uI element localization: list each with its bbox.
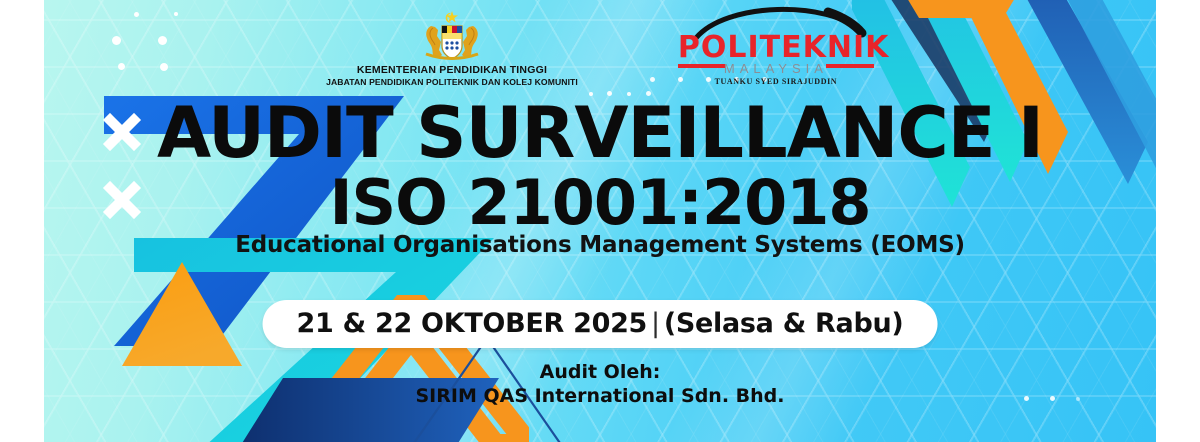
event-date-badge: 21 & 22 OKTOBER 2025|(Selasa & Rabu) [263, 300, 938, 348]
jata-negara-emblem [417, 10, 487, 62]
politeknik-country: MALAYSIA [678, 62, 874, 75]
politeknik-wordmark: POLITEKNIK [678, 33, 874, 63]
politeknik-campus: TUANKU SYED SIRAJUDDIN [678, 78, 874, 86]
date-separator: | [647, 308, 664, 339]
event-date-range: 21 & 22 OKTOBER 2025 [297, 308, 648, 339]
standard-name: Educational Organisations Management Sys… [44, 232, 1156, 258]
ministry-logo-block: KEMENTERIAN PENDIDIKAN TINGGI JABATAN PE… [326, 10, 578, 87]
audit-by-block: Audit Oleh: SIRIM QAS International Sdn.… [44, 360, 1156, 409]
standard-code: ISO 21001:2018 [44, 172, 1156, 234]
event-banner: KEMENTERIAN PENDIDIKAN TINGGI JABATAN PE… [0, 0, 1200, 442]
event-days: (Selasa & Rabu) [664, 308, 904, 339]
banner-artboard: KEMENTERIAN PENDIDIKAN TINGGI JABATAN PE… [44, 0, 1156, 442]
orange-triangle-shape [122, 262, 242, 366]
politeknik-logo-block: POLITEKNIK MALAYSIA TUANKU SYED SIRAJUDD… [678, 10, 874, 80]
logo-row: KEMENTERIAN PENDIDIKAN TINGGI JABATAN PE… [44, 10, 1156, 87]
page-title: AUDIT SURVEILLANCE I [44, 100, 1156, 167]
audit-by-organisation: SIRIM QAS International Sdn. Bhd. [44, 384, 1156, 408]
ministry-name-line1: KEMENTERIAN PENDIDIKAN TINGGI [357, 65, 547, 77]
audit-by-label: Audit Oleh: [44, 360, 1156, 384]
ministry-name-line2: JABATAN PENDIDIKAN POLITEKNIK DAN KOLEJ … [326, 78, 578, 88]
